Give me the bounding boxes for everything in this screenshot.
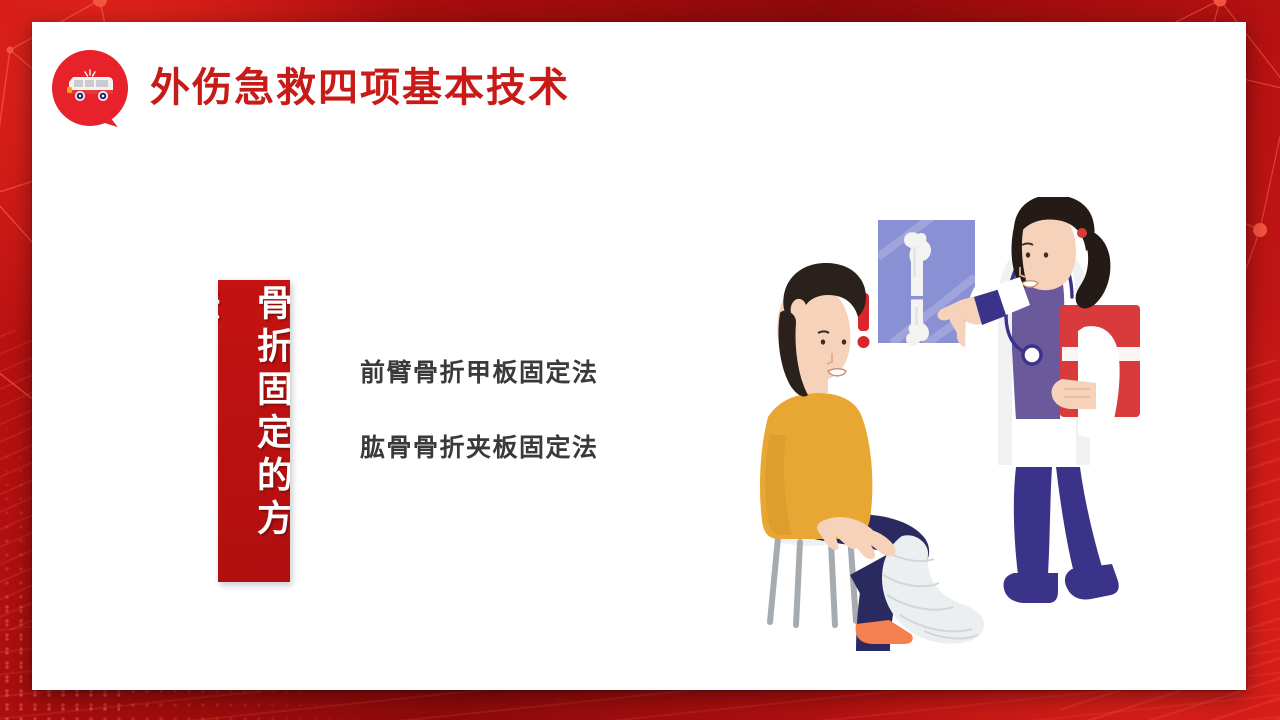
list-item: 前臂骨折甲板固定法	[360, 358, 599, 388]
section-banner-label: 骨折固定的方法	[236, 284, 290, 582]
slide-header: 外伤急救四项基本技术	[52, 50, 570, 126]
doctor-figure	[950, 197, 1140, 603]
doctor-patient-illustration	[732, 197, 1202, 657]
slide-content-card: 外伤急救四项基本技术 骨折固定的方法 前臂骨折甲板固定法 肱骨骨折夹板固定法	[32, 22, 1246, 690]
list-item: 肱骨骨折夹板固定法	[360, 433, 599, 463]
ambulance-icon	[64, 68, 116, 113]
page-title: 外伤急救四项基本技术	[150, 68, 570, 108]
section-banner: 骨折固定的方法	[218, 280, 290, 582]
ambulance-badge	[52, 50, 128, 126]
method-list: 前臂骨折甲板固定法 肱骨骨折夹板固定法	[360, 358, 599, 463]
